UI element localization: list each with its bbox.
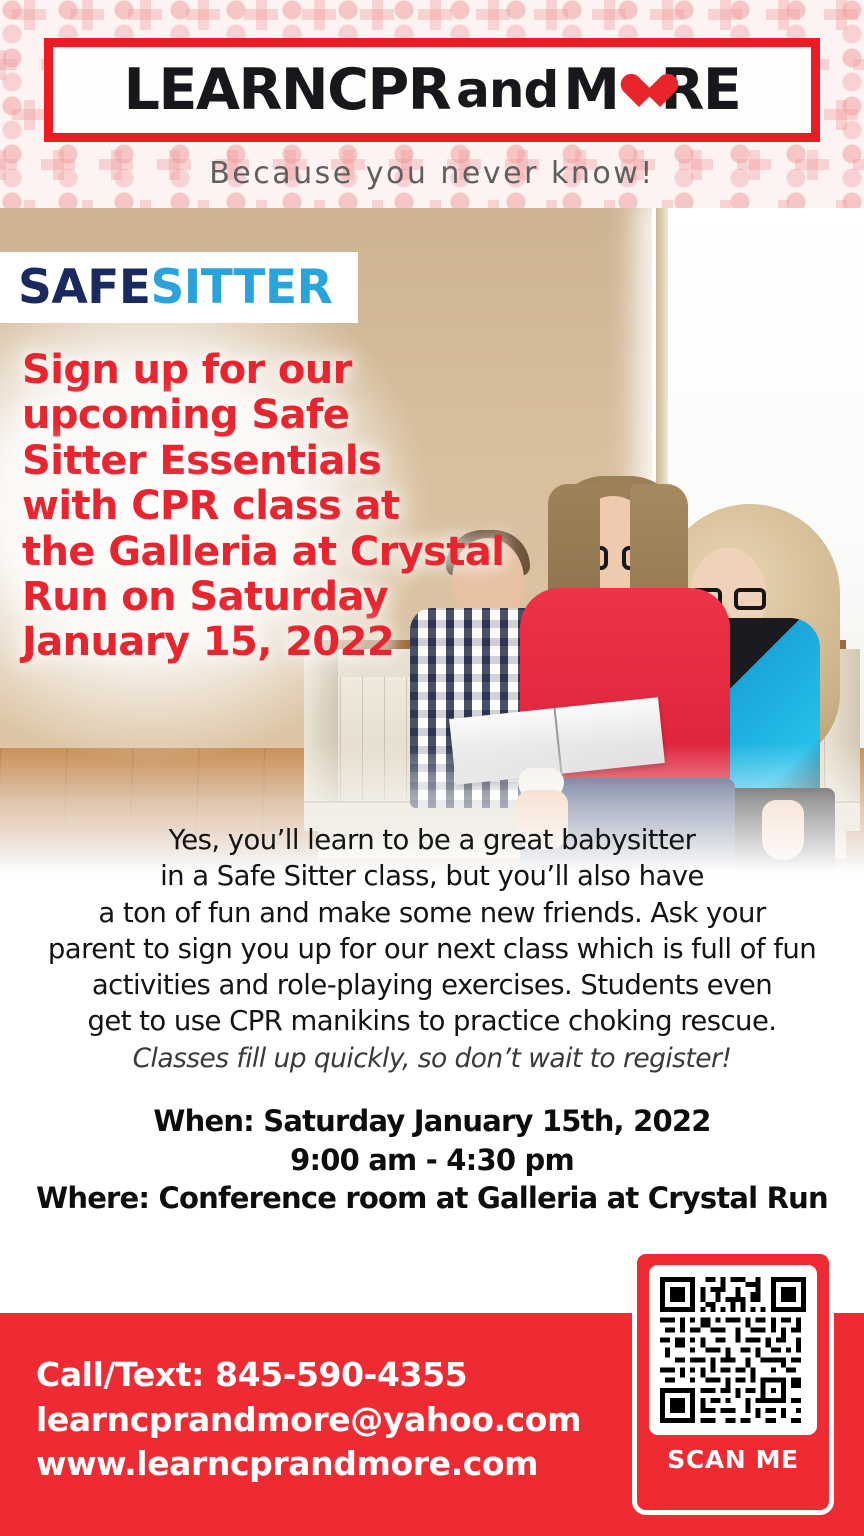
safesitter-logo: SAFESITTER <box>0 252 358 323</box>
headline-line: Sign up for our <box>22 348 562 393</box>
headline-line: with CPR class at <box>22 484 562 529</box>
headline-line: Sitter Essentials <box>22 439 562 484</box>
brand-tagline: Because you never know! <box>0 156 864 191</box>
body-copy: Yes, you’ll learn to be a great babysitt… <box>0 822 864 1077</box>
headline-line: January 15, 2022 <box>22 620 562 665</box>
body-line: in a Safe Sitter class, but you’ll also … <box>0 858 864 894</box>
headline-line: Run on Saturday <box>22 575 562 620</box>
header-band: LEARNCPR and M RE Because you never know… <box>0 0 864 208</box>
flyer-page: LEARNCPR and M RE Because you never know… <box>0 0 864 1536</box>
body-line: get to use CPR manikins to practice chok… <box>0 1003 864 1039</box>
qr-code-icon <box>660 1277 806 1423</box>
body-line: parent to sign you up for our next class… <box>0 931 864 967</box>
body-line: Yes, you’ll learn to be a great babysitt… <box>0 822 864 858</box>
event-when: When: Saturday January 15th, 2022 <box>0 1102 864 1141</box>
qr-code-card[interactable]: SCAN ME <box>632 1249 834 1515</box>
brand-logo-box: LEARNCPR and M RE <box>44 38 820 142</box>
logo-letter-m: M <box>563 62 618 119</box>
footer-contact-block: Call/Text: 845-590-4355 learncprandmore@… <box>36 1353 581 1487</box>
logo-word-learncpr: LEARNCPR <box>124 62 450 119</box>
logo-word-and: and <box>456 65 558 115</box>
body-line: activities and role-playing exercises. S… <box>0 967 864 1003</box>
headline-line: the Galleria at Crystal <box>22 530 562 575</box>
safesitter-word-sitter: SITTER <box>150 260 332 315</box>
headline-line: upcoming Safe <box>22 393 562 438</box>
contact-email[interactable]: learncprandmore@yahoo.com <box>36 1398 581 1443</box>
contact-website[interactable]: www.learncprandmore.com <box>36 1442 581 1487</box>
qr-code-panel <box>649 1265 817 1435</box>
qr-scan-me-label: SCAN ME <box>667 1445 798 1474</box>
event-details: When: Saturday January 15th, 2022 9:00 a… <box>0 1102 864 1218</box>
safesitter-word-safe: SAFE <box>18 260 150 315</box>
body-line: a ton of fun and make some new friends. … <box>0 895 864 931</box>
brand-logo-text: LEARNCPR and M RE <box>124 62 741 119</box>
event-where: Where: Conference room at Galleria at Cr… <box>0 1179 864 1218</box>
event-time: 9:00 am - 4:30 pm <box>0 1141 864 1180</box>
contact-phone[interactable]: Call/Text: 845-590-4355 <box>36 1353 581 1398</box>
headline: Sign up for our upcoming Safe Sitter Ess… <box>22 348 562 666</box>
body-note: Classes fill up quickly, so don’t wait t… <box>0 1042 864 1077</box>
heart-icon <box>620 73 660 111</box>
